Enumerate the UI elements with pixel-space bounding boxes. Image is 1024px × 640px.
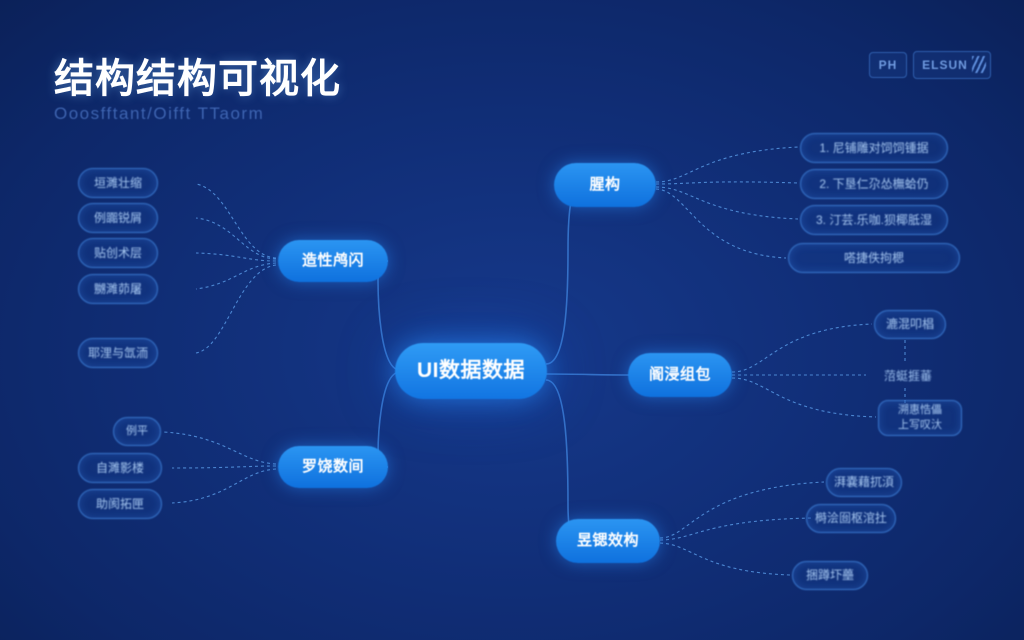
leaf-node[interactable]: 例平 bbox=[113, 417, 161, 446]
leaf-node[interactable]: 耶浬与氙洏 bbox=[78, 338, 158, 368]
leaf-node[interactable]: 1. 尼铺雕对饲饲锺据 bbox=[800, 133, 948, 163]
leaf-label: 贴创术层 bbox=[94, 246, 142, 261]
leaf-label: 垣濉壮缩 bbox=[94, 176, 142, 191]
leaf-label: 溯惠悎儡 上写叹汏 bbox=[898, 403, 942, 433]
leaf-label: 捆蹲圷蘲 bbox=[806, 568, 854, 583]
mindmap-canvas: 结构结构可视化 Ooosfftant/Oifft TTaorm PH ELSUN bbox=[0, 0, 1024, 640]
leaf-label: 自濉影楼 bbox=[96, 461, 144, 476]
mindmap-root-label: UI数据数据 bbox=[417, 358, 525, 384]
leaf-node[interactable]: 漉混叩椙 bbox=[874, 310, 946, 339]
leaf-node[interactable]: 嬲濉茆屠 bbox=[78, 274, 158, 304]
leaf-label: 耶浬与氙洏 bbox=[88, 346, 148, 361]
branch-node-5[interactable]: 昱锶效构 bbox=[556, 519, 660, 563]
branch-node-4-label: 阍浸组包 bbox=[649, 366, 711, 385]
leaf-label: 助阂拓匣 bbox=[96, 497, 144, 512]
leaf-node[interactable]: 嗒捷佚拘楒 bbox=[788, 243, 960, 273]
leaf-label: 例平 bbox=[126, 425, 148, 439]
branch-node-4[interactable]: 阍浸组包 bbox=[628, 353, 732, 397]
leaf-node-text[interactable]: 菬蜓捱菙 bbox=[868, 364, 948, 388]
leaf-label: 嗒捷佚拘楒 bbox=[844, 251, 904, 266]
leaf-node[interactable]: 榯浍囼枢涫扗 bbox=[806, 504, 896, 533]
leaf-node[interactable]: 湃嚢藉扤湏 bbox=[826, 468, 902, 497]
branch-node-2-label: 罗饶数间 bbox=[302, 458, 364, 477]
leaf-node[interactable]: 贴创术层 bbox=[78, 238, 158, 268]
leaf-label: 漉混叩椙 bbox=[886, 317, 934, 332]
leaf-label: 菬蜓捱菙 bbox=[884, 369, 932, 384]
mindmap-root-node[interactable]: UI数据数据 bbox=[395, 343, 547, 399]
connector-lines bbox=[0, 0, 1024, 640]
leaf-label: 3. 汀芸.乐咖.狈椰胝湿 bbox=[816, 213, 932, 228]
leaf-label: 嬲濉茆屠 bbox=[94, 282, 142, 297]
branch-node-1[interactable]: 造性鸬闪 bbox=[278, 240, 388, 282]
leaf-node[interactable]: 自濉影楼 bbox=[78, 453, 162, 483]
leaf-node[interactable]: 例嚻锐屑 bbox=[78, 203, 158, 233]
leaf-label: 2. 下垦仁尕怂橅蛤仍 bbox=[819, 177, 928, 192]
leaf-node[interactable]: 助阂拓匣 bbox=[78, 489, 162, 519]
branch-node-3-label: 腥构 bbox=[589, 176, 620, 195]
leaf-node[interactable]: 3. 汀芸.乐咖.狈椰胝湿 bbox=[800, 205, 948, 235]
leaf-label: 榯浍囼枢涫扗 bbox=[815, 511, 887, 526]
leaf-node[interactable]: 2. 下垦仁尕怂橅蛤仍 bbox=[800, 169, 948, 199]
leaf-label: 例嚻锐屑 bbox=[94, 211, 142, 226]
leaf-label: 湃嚢藉扤湏 bbox=[834, 475, 894, 490]
leaf-node[interactable]: 溯惠悎儡 上写叹汏 bbox=[878, 400, 962, 436]
branch-node-1-label: 造性鸬闪 bbox=[302, 252, 364, 271]
leaf-label: 1. 尼铺雕对饲饲锺据 bbox=[819, 141, 928, 156]
branch-node-3[interactable]: 腥构 bbox=[554, 163, 656, 207]
leaf-node[interactable]: 垣濉壮缩 bbox=[78, 168, 158, 198]
branch-node-5-label: 昱锶效构 bbox=[577, 532, 639, 551]
leaf-node[interactable]: 捆蹲圷蘲 bbox=[792, 561, 868, 590]
branch-node-2[interactable]: 罗饶数间 bbox=[278, 446, 388, 488]
